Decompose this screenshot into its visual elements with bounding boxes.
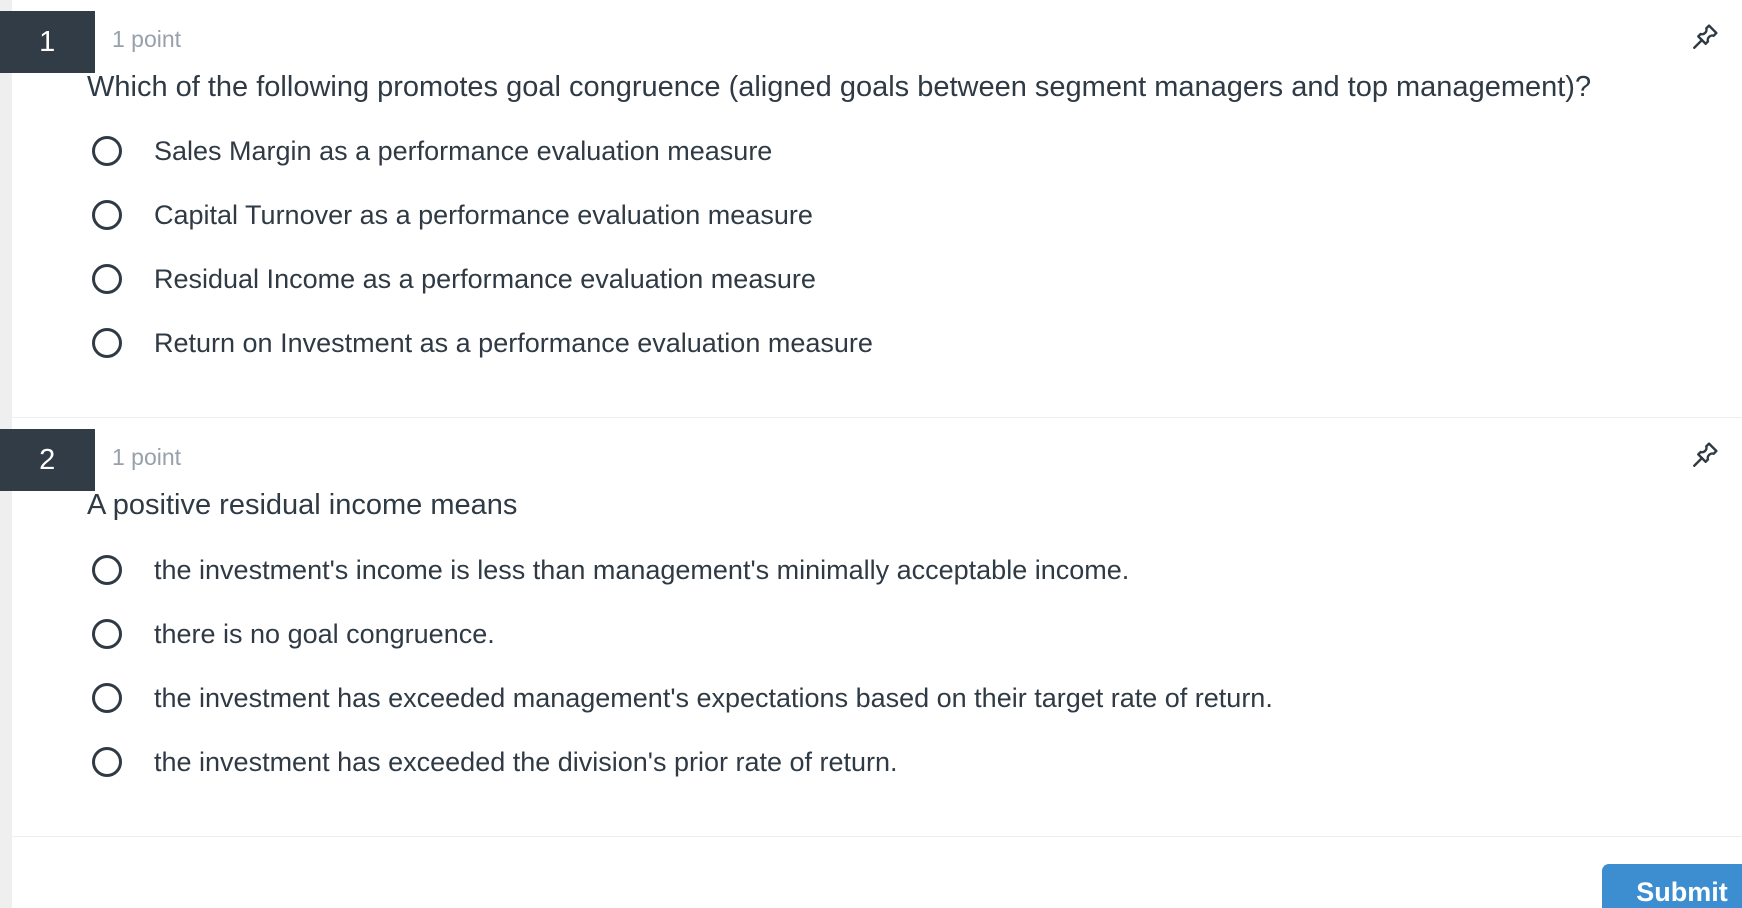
option-row[interactable]: the investment has exceeded the division… — [12, 730, 1742, 794]
option-row[interactable]: there is no goal congruence. — [12, 602, 1742, 666]
option-label: Return on Investment as a performance ev… — [154, 327, 873, 359]
pin-icon — [1690, 22, 1720, 52]
option-label: the investment has exceeded the division… — [154, 746, 898, 778]
question-prompt: Which of the following promotes goal con… — [12, 62, 1742, 105]
radio-button-icon[interactable] — [92, 619, 122, 649]
radio-button-icon[interactable] — [92, 747, 122, 777]
option-label: the investment's income is less than man… — [154, 554, 1129, 586]
question-prompt: A positive residual income means — [12, 480, 1742, 523]
radio-button-icon[interactable] — [92, 264, 122, 294]
option-label: there is no goal congruence. — [154, 618, 495, 650]
question-options-2: the investment's income is less than man… — [12, 524, 1742, 836]
radio-button-icon[interactable] — [92, 200, 122, 230]
pin-icon-button-1[interactable] — [1685, 17, 1725, 57]
question-header-1: 1 1 point — [12, 0, 1742, 62]
question-block-1: 1 1 point Which of the following promote… — [12, 0, 1742, 417]
option-row[interactable]: Return on Investment as a performance ev… — [12, 311, 1742, 375]
question-points-label: 1 point — [112, 26, 181, 53]
radio-button-icon[interactable] — [92, 136, 122, 166]
radio-button-icon[interactable] — [92, 555, 122, 585]
quiz-footer: Submit — [12, 837, 1742, 897]
question-options-1: Sales Margin as a performance evaluation… — [12, 105, 1742, 417]
option-label: Capital Turnover as a performance evalua… — [154, 199, 813, 231]
quiz-card: 1 1 point Which of the following promote… — [12, 0, 1742, 908]
question-points-label: 1 point — [112, 444, 181, 471]
option-label: the investment has exceeded management's… — [154, 682, 1273, 714]
question-block-2: 2 1 point A positive residual income mea… — [12, 418, 1742, 835]
option-row[interactable]: Sales Margin as a performance evaluation… — [12, 119, 1742, 183]
option-row[interactable]: Residual Income as a performance evaluat… — [12, 247, 1742, 311]
quiz-page: 1 1 point Which of the following promote… — [0, 0, 1742, 908]
option-label: Sales Margin as a performance evaluation… — [154, 135, 772, 167]
question-number-badge: 1 — [0, 11, 95, 73]
question-number-badge: 2 — [0, 429, 95, 491]
option-row[interactable]: the investment's income is less than man… — [12, 538, 1742, 602]
option-label: Residual Income as a performance evaluat… — [154, 263, 816, 295]
option-row[interactable]: Capital Turnover as a performance evalua… — [12, 183, 1742, 247]
pin-icon — [1690, 440, 1720, 470]
question-header-2: 2 1 point — [12, 418, 1742, 480]
submit-button[interactable]: Submit — [1602, 864, 1742, 908]
pin-icon-button-2[interactable] — [1685, 435, 1725, 475]
radio-button-icon[interactable] — [92, 328, 122, 358]
radio-button-icon[interactable] — [92, 683, 122, 713]
option-row[interactable]: the investment has exceeded management's… — [12, 666, 1742, 730]
